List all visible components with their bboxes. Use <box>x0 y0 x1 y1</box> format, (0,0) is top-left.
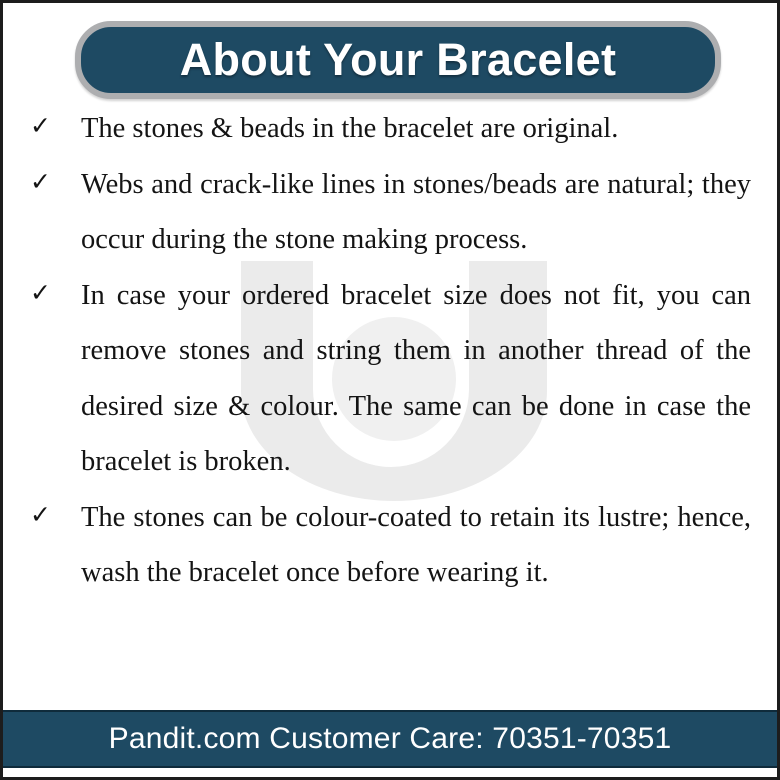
about-your-bracelet-card: About Your Bracelet ✓ The stones & beads… <box>0 0 780 780</box>
check-icon: ✓ <box>30 160 56 204</box>
check-icon: ✓ <box>30 493 56 537</box>
list-item-text: In case your ordered bracelet size does … <box>81 268 751 490</box>
list-item: ✓ The stones can be colour-coated to ret… <box>3 490 777 601</box>
header-pill: About Your Bracelet <box>75 21 721 99</box>
customer-care-text: Pandit.com Customer Care: 70351-70351 <box>109 722 672 756</box>
list-item-text: The stones can be colour-coated to retai… <box>81 490 751 601</box>
footer-bar: Pandit.com Customer Care: 70351-70351 <box>3 710 777 768</box>
bullet-list: ✓ The stones & beads in the bracelet are… <box>3 101 777 601</box>
list-item: ✓ Webs and crack-like lines in stones/be… <box>3 157 777 268</box>
list-item-text: Webs and crack-like lines in stones/bead… <box>81 157 751 268</box>
list-item: ✓ In case your ordered bracelet size doe… <box>3 268 777 490</box>
header: About Your Bracelet <box>3 17 777 95</box>
list-item-text: The stones & beads in the bracelet are o… <box>81 101 751 157</box>
list-item: ✓ The stones & beads in the bracelet are… <box>3 101 777 157</box>
page-title: About Your Bracelet <box>81 34 715 86</box>
check-icon: ✓ <box>30 104 56 148</box>
check-icon: ✓ <box>30 271 56 315</box>
